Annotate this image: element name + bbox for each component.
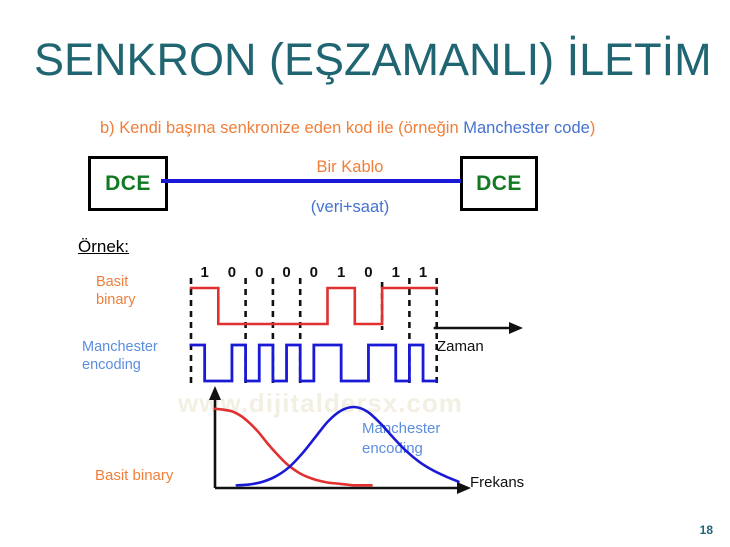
nrz-waveform-path	[191, 288, 437, 324]
bit-digit: 0	[310, 264, 318, 281]
spectrum-x-arrowhead	[457, 482, 471, 494]
bit-digit: 0	[228, 264, 236, 281]
nrz-signal-trace	[191, 288, 437, 324]
manchester-waveform-path	[191, 345, 437, 381]
spectrum-y-arrowhead	[209, 386, 221, 400]
bit-digit: 1	[200, 264, 208, 281]
bit-digit: 0	[282, 264, 290, 281]
time-axis-arrowhead	[509, 322, 523, 334]
manchester-signal-trace	[191, 345, 437, 381]
spectrum-plot	[209, 386, 471, 494]
time-axis	[434, 322, 523, 334]
bit-digit: 1	[392, 264, 400, 281]
bit-digit: 0	[255, 264, 263, 281]
spectrum-series-trace	[215, 409, 372, 486]
slide-canvas: SENKRON (EŞZAMANLI) İLETİM b) Kendi başı…	[0, 0, 730, 547]
page-number: 18	[700, 523, 713, 537]
bit-label-row: 100001011	[200, 264, 427, 281]
bit-digit: 1	[337, 264, 345, 281]
waveform-diagram: 100001011	[0, 0, 730, 547]
bit-digit: 1	[419, 264, 427, 281]
bit-digit: 0	[364, 264, 372, 281]
